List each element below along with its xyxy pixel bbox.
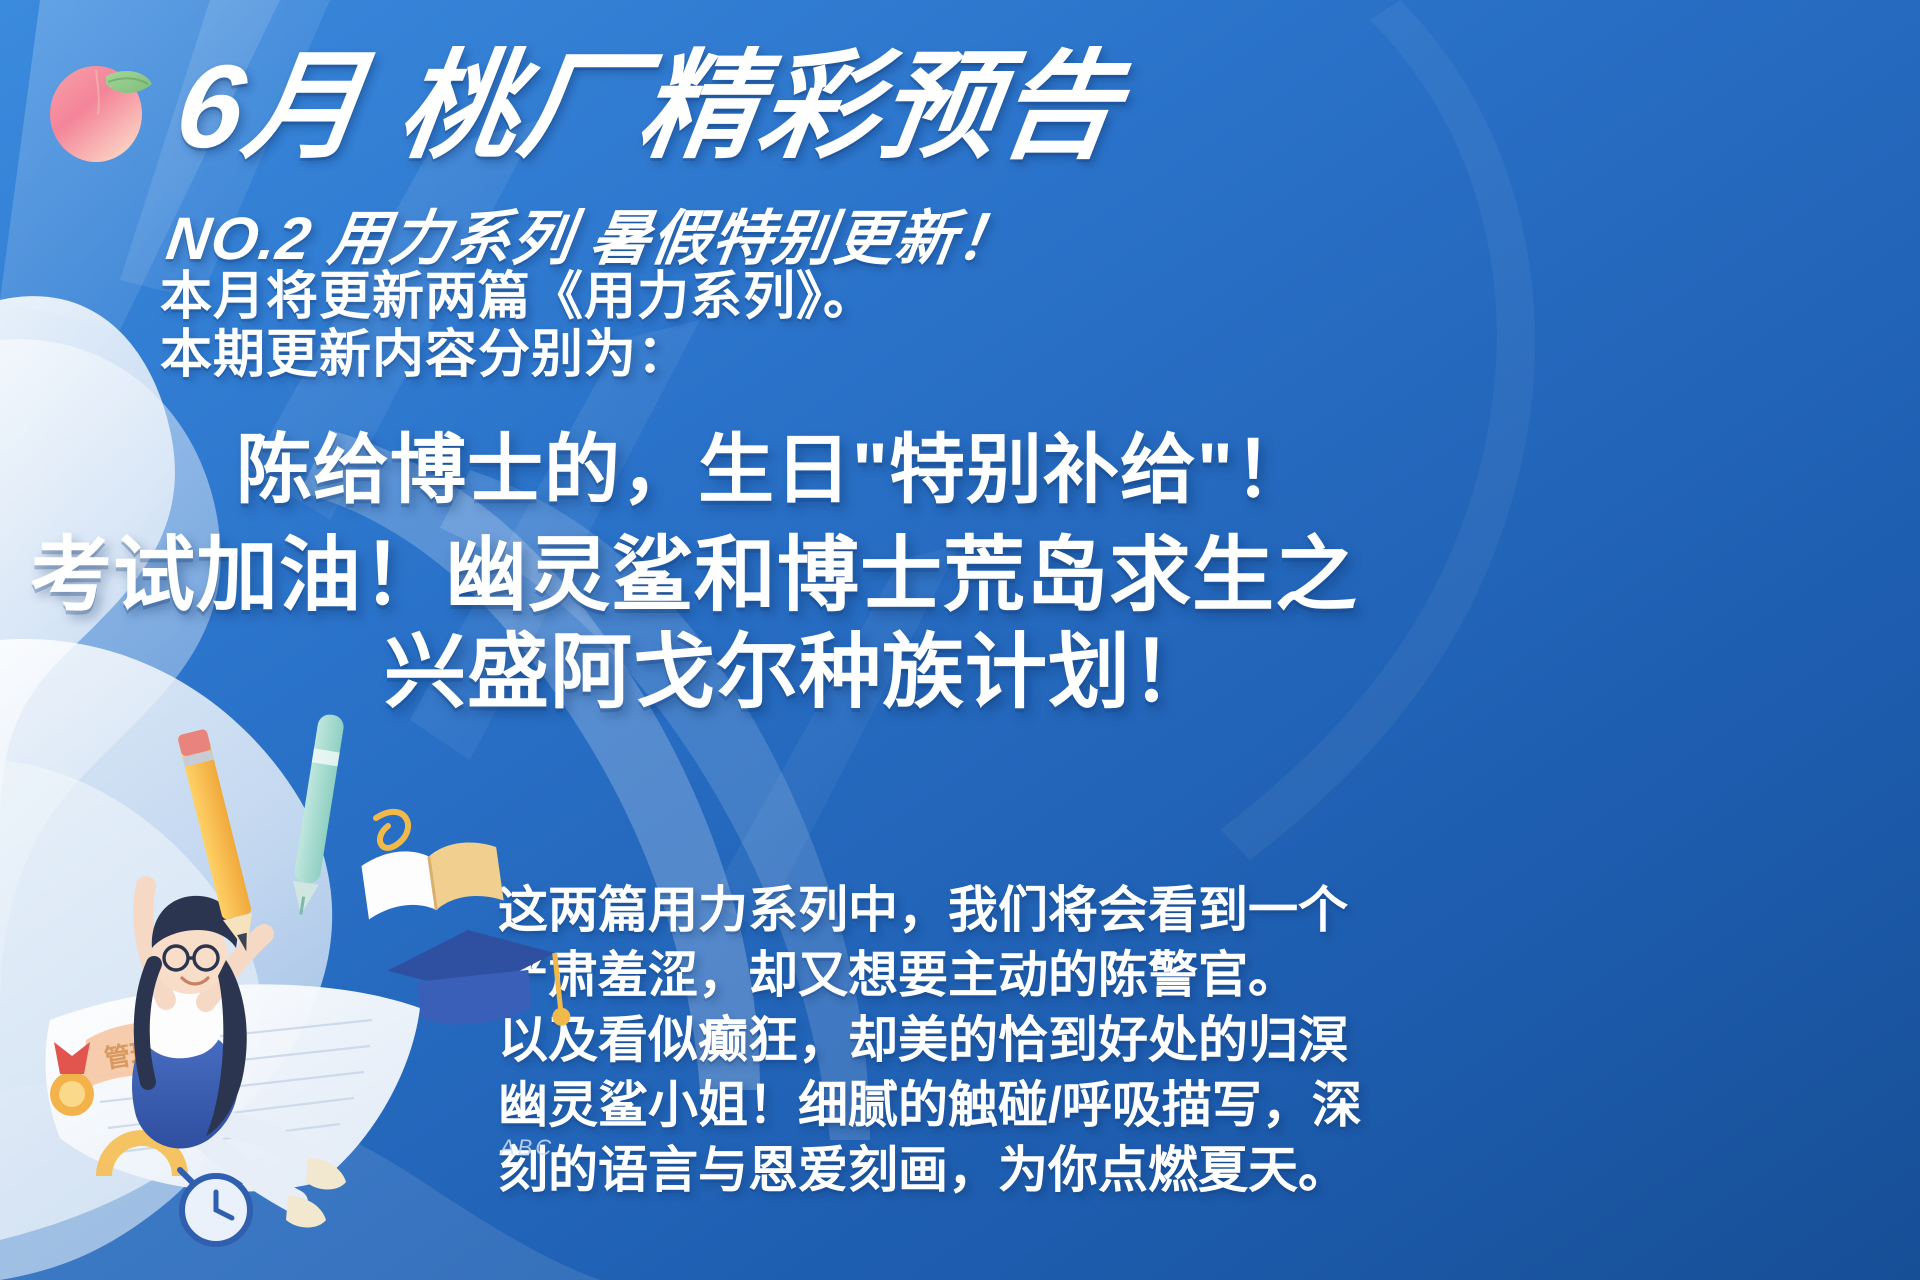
page-title: 6月 桃厂精彩预告: [170, 48, 1129, 166]
headline-episode-one: 陈给博士的，生日"特别补给"！: [236, 408, 1311, 518]
lead-line: 本月将更新两篇《用力系列》。: [160, 268, 876, 326]
peach-icon: [40, 48, 160, 166]
title-row: 6月 桃厂精彩预告: [40, 48, 1120, 166]
open-book-icon: [360, 838, 503, 919]
illustration-caption: ABC: [500, 1135, 554, 1161]
student-illustration: 管理: [20, 690, 640, 1270]
lead-line: 本期更新内容分别为：: [160, 326, 876, 384]
headline-episode-two-line1: 考试加油！幽灵鲨和博士荒岛求生之: [30, 528, 1358, 625]
lead-paragraph: 本月将更新两篇《用力系列》。 本期更新内容分别为：: [160, 268, 876, 384]
poster-canvas: 6月 桃厂精彩预告 NO.2 用力系列 暑假特别更新！ 本月将更新两篇《用力系列…: [0, 0, 1920, 1280]
squiggle-decoration: [376, 812, 408, 848]
subtitle: NO.2 用力系列 暑假特别更新！: [162, 190, 1025, 277]
fountain-pen-icon: [288, 713, 345, 917]
